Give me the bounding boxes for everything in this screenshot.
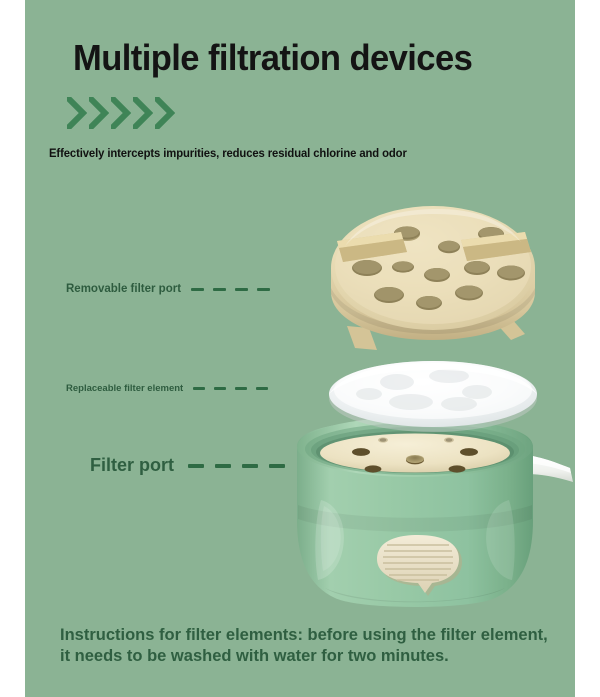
dash-segment xyxy=(215,464,231,468)
chevron-right-icon xyxy=(155,97,175,129)
inner-plate-screws xyxy=(378,437,454,442)
dash-segment xyxy=(235,387,247,390)
callout-dashes xyxy=(191,288,279,291)
filter-element-disc-group xyxy=(329,361,537,432)
cap-holes xyxy=(352,226,525,310)
dash-segment xyxy=(269,464,285,468)
chevron-right-icon xyxy=(133,97,153,129)
infographic-canvas: Multiple filtration devices Effectively … xyxy=(0,0,600,697)
dash-segment xyxy=(214,387,226,390)
callout-label: Replaceable filter element xyxy=(66,383,183,394)
chevron-right-icon xyxy=(89,97,109,129)
dash-segment xyxy=(193,387,205,390)
base-housing-group xyxy=(297,417,573,607)
cap-tab-handles xyxy=(337,232,531,262)
callout-label: Filter port xyxy=(90,455,174,476)
callout-label: Removable filter port xyxy=(66,283,181,295)
inner-plate-holes xyxy=(352,448,478,473)
callout-removable-filter-port: Removable filter port xyxy=(66,283,279,295)
chevron-right-icon xyxy=(111,97,131,129)
dash-segment xyxy=(256,387,268,390)
chevron-right-icon xyxy=(67,97,87,129)
dash-segment xyxy=(242,464,258,468)
dash-segment xyxy=(191,288,204,291)
front-badge xyxy=(377,535,462,596)
perforated-cap-group xyxy=(331,206,535,350)
callout-filter-port: Filter port xyxy=(90,455,296,476)
dash-segment xyxy=(188,464,204,468)
dash-segment xyxy=(235,288,248,291)
page-title: Multiple filtration devices xyxy=(73,37,524,79)
dash-segment xyxy=(257,288,270,291)
callout-dashes xyxy=(188,464,296,468)
chevron-decoration xyxy=(67,97,175,129)
callout-dashes xyxy=(193,387,277,390)
callout-replaceable-filter-element: Replaceable filter element xyxy=(66,383,277,394)
page-subtitle: Effectively intercepts impurities, reduc… xyxy=(49,148,539,160)
filter-instructions-text: Instructions for filter elements: before… xyxy=(60,625,555,667)
green-panel: Multiple filtration devices Effectively … xyxy=(25,0,575,697)
dash-segment xyxy=(213,288,226,291)
